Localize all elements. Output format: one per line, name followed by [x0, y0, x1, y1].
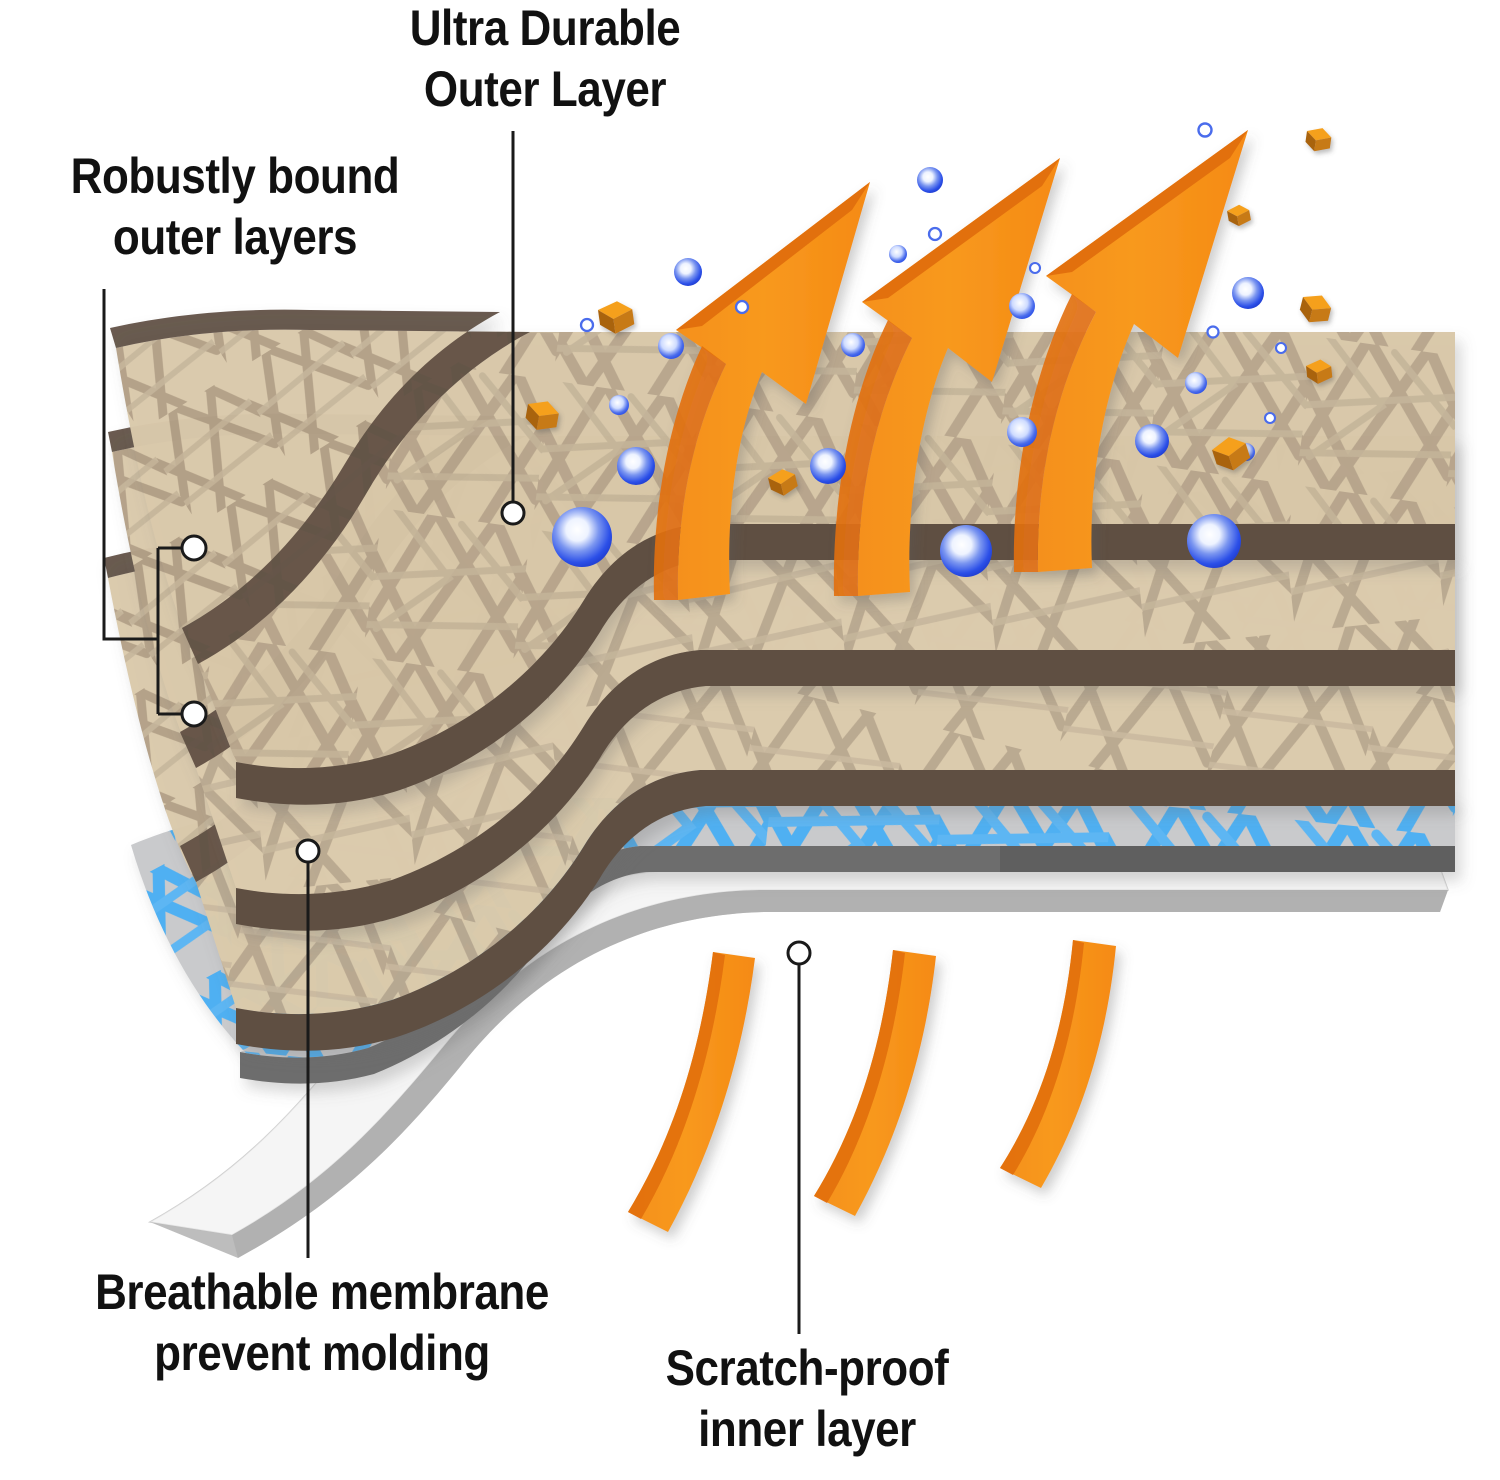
bubble-large [617, 447, 655, 485]
bubble-large [552, 507, 612, 567]
bubble-medium [1009, 293, 1035, 319]
bubble-small [1199, 124, 1212, 137]
bubble-small [1030, 263, 1040, 273]
bubble-small [1276, 343, 1286, 353]
bubble-small [581, 319, 593, 331]
bubble-large [810, 448, 846, 484]
label-ultra-durable-outer-layer: Ultra Durable Outer Layer [360, 0, 730, 120]
diagram-canvas: Ultra Durable Outer Layer Robustly bound… [0, 0, 1500, 1475]
bubble-small [929, 228, 941, 240]
bubble-large [917, 167, 943, 193]
bubble-large [1232, 277, 1264, 309]
bubble-medium [841, 333, 865, 357]
label-robustly-bound-outer-layers: Robustly bound outer layers [28, 146, 442, 268]
bubble-small [1265, 413, 1275, 423]
bubble-medium [889, 245, 907, 263]
label-scratch-proof-inner-layer: Scratch-proof inner layer [618, 1338, 996, 1460]
bubble-large [674, 258, 702, 286]
label-breathable-membrane: Breathable membrane prevent molding [32, 1262, 613, 1384]
bubble-small [1208, 327, 1219, 338]
bubble-medium [1007, 417, 1037, 447]
bubble-small [736, 301, 748, 313]
bubble-medium [1185, 372, 1207, 394]
bubble-large [940, 525, 992, 577]
bubble-medium [609, 395, 629, 415]
bubble-large [1135, 424, 1169, 458]
bubble-medium [658, 333, 684, 359]
bubble-large [1187, 514, 1241, 568]
